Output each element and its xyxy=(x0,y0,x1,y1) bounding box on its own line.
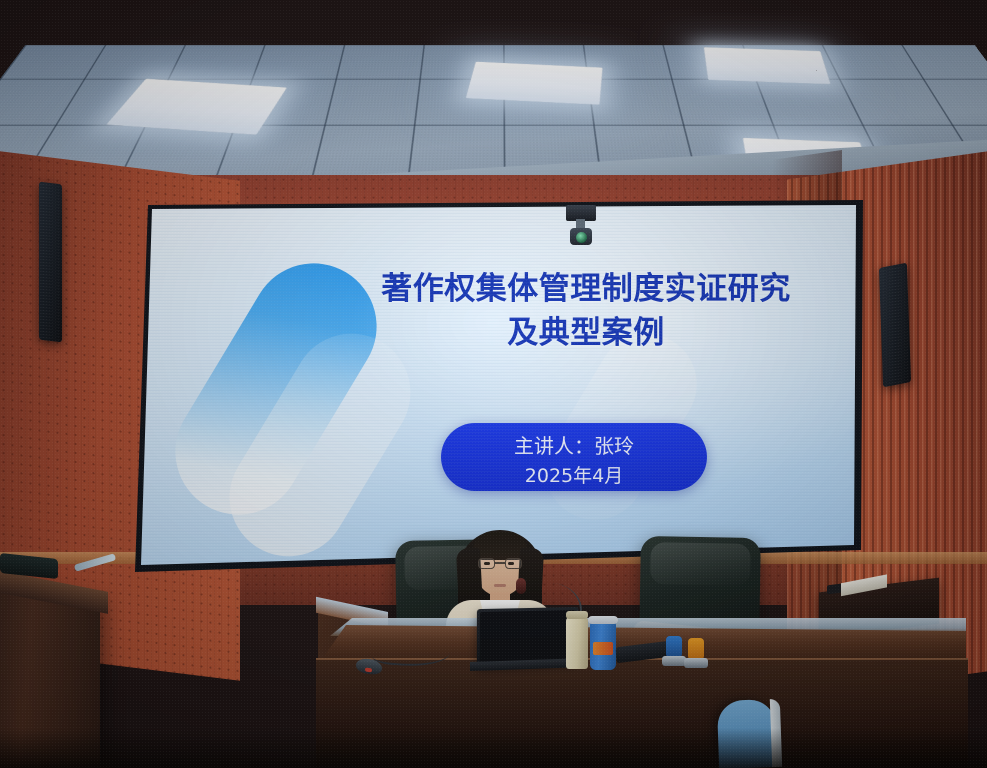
ceiling-light-panel xyxy=(466,62,603,105)
speaker-grill xyxy=(41,184,60,340)
presenter-eye-right xyxy=(508,562,514,565)
camera-lens xyxy=(576,232,587,243)
wall-speaker-right xyxy=(879,263,911,388)
laptop-bezel xyxy=(480,610,576,663)
led-screen-display[interactable]: 著作权集体管理制度实证研究 及典型案例 主讲人：张玲 2025年4月 xyxy=(141,205,856,565)
wall-speaker-left xyxy=(39,182,62,343)
conference-room-scene: 著作权集体管理制度实证研究 及典型案例 主讲人：张玲 2025年4月 xyxy=(0,0,987,768)
gooseneck-microphone-head xyxy=(516,578,526,594)
eyeglass-bridge xyxy=(495,562,505,564)
vacuum-flask xyxy=(566,617,588,669)
chair-highlight xyxy=(650,542,752,585)
ceiling-light-panel xyxy=(704,47,831,84)
presenter-eye-left xyxy=(484,562,490,565)
desk-microphone-blue xyxy=(666,636,682,658)
microphone-base xyxy=(662,656,686,666)
cup-lid xyxy=(588,616,618,624)
mouse-scroll-indicator xyxy=(365,668,372,673)
led-pixel-scanlines xyxy=(141,205,856,565)
flask-cap xyxy=(566,611,588,619)
laptop-display[interactable] xyxy=(477,607,579,667)
desk-microphone-orange xyxy=(688,638,704,660)
cup-label xyxy=(593,642,613,655)
presenter-mouth xyxy=(494,584,506,587)
microphone-base xyxy=(684,658,708,668)
foreground-audience-chair xyxy=(717,699,777,768)
paper-cup xyxy=(590,622,616,670)
speaker-grill xyxy=(881,265,909,385)
ceiling-camera-icon xyxy=(566,205,596,221)
rostrum-front-panel xyxy=(316,660,968,768)
